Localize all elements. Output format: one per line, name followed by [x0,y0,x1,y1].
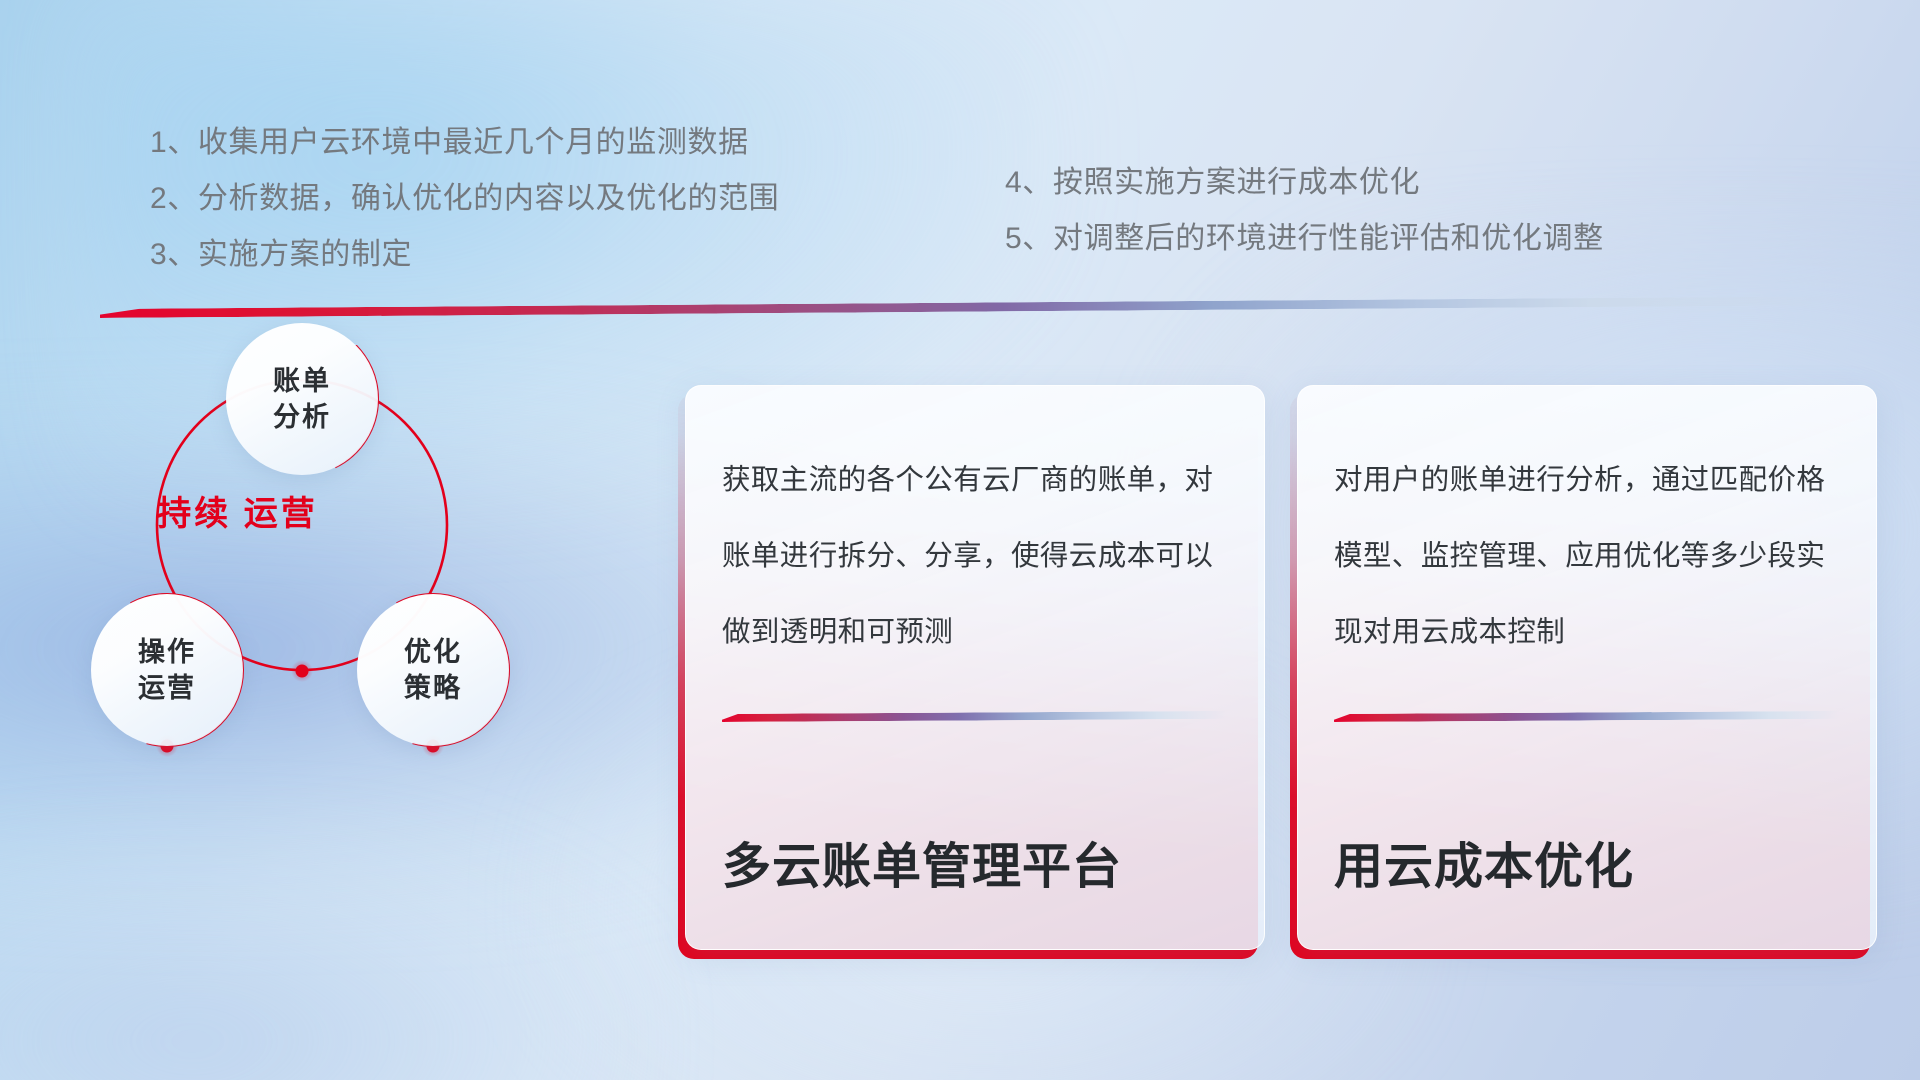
feature-card-description: 获取主流的各个公有云厂商的账单，对账单进行拆分、分享，使得云成本可以做到透明和可… [722,442,1228,700]
feature-card-description: 对用户的账单进行分析，通过匹配价格模型、监控管理、应用优化等多少段实现对用云成本… [1334,442,1840,700]
feature-card-title: 多云账单管理平台 [722,841,1228,895]
step-item-4: 4、按照实施方案进行成本优化 [1005,155,1604,211]
cycle-node-bill-analysis-line2: 分析 [273,399,331,435]
feature-card-rule [1334,714,1840,726]
step-item-5: 5、对调整后的环境进行性能评估和优化调整 [1005,211,1604,267]
cycle-node-operations[interactable]: 操作 运营 [91,594,243,746]
feature-card-cloud-cost-optimization[interactable]: 对用户的账单进行分析，通过匹配价格模型、监控管理、应用优化等多少段实现对用云成本… [1297,385,1877,950]
cycle-node-bill-analysis[interactable]: 账单 分析 [226,323,378,475]
cycle-node-optimization-strategy-line1: 优化 [404,634,462,670]
cycle-diagram: 账单 分析 操作 运营 优化 策略 持续 运营 [95,345,655,945]
cycle-node-operations-line1: 操作 [138,634,196,670]
cycle-node-bill-analysis-line1: 账单 [273,363,331,399]
feature-card-rule-bar [722,711,1228,722]
step-item-3: 3、实施方案的制定 [150,227,779,283]
step-item-1: 1、收集用户云环境中最近几个月的监测数据 [150,115,779,171]
step-item-2: 2、分析数据，确认优化的内容以及优化的范围 [150,171,779,227]
cycle-center-label: 持续 运营 [95,493,380,537]
cycle-node-optimization-strategy-line2: 策略 [404,670,462,706]
feature-card-panel[interactable]: 对用户的账单进行分析，通过匹配价格模型、监控管理、应用优化等多少段实现对用云成本… [1297,385,1877,950]
cycle-center-label-line1: 持续 [157,495,231,533]
steps-left-column: 1、收集用户云环境中最近几个月的监测数据 2、分析数据，确认优化的内容以及优化的… [150,115,779,283]
cycle-node-optimization-strategy[interactable]: 优化 策略 [357,594,509,746]
feature-card-title: 用云成本优化 [1334,841,1840,895]
steps-right-column: 4、按照实施方案进行成本优化 5、对调整后的环境进行性能评估和优化调整 [1005,155,1604,267]
feature-card-rule [722,714,1228,726]
feature-card-rule-bar [1334,711,1840,722]
feature-card-multicloud-billing[interactable]: 获取主流的各个公有云厂商的账单，对账单进行拆分、分享，使得云成本可以做到透明和可… [685,385,1265,950]
cycle-node-operations-line2: 运营 [138,670,196,706]
cycle-dot-top [296,665,309,678]
cycle-center-label-line2: 运营 [244,495,318,533]
feature-card-panel[interactable]: 获取主流的各个公有云厂商的账单，对账单进行拆分、分享，使得云成本可以做到透明和可… [685,385,1265,950]
